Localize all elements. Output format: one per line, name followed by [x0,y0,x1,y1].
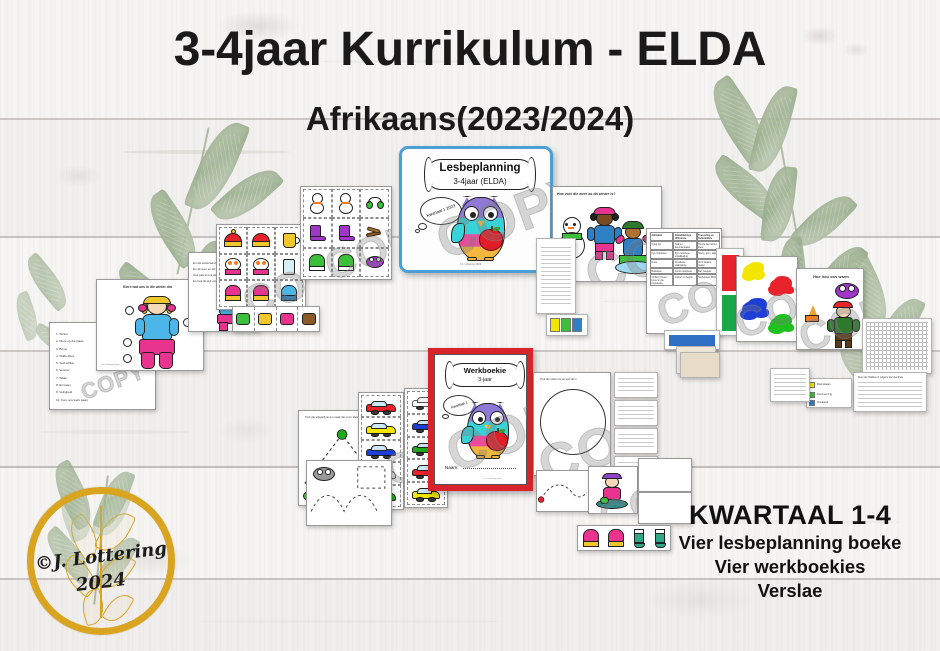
flashcard-cell [332,218,361,247]
fire-icon [805,305,819,323]
girl-winter-clothes-icon [133,296,181,370]
worksheet-colour-blocks [546,314,588,336]
cover-title: Werkboekie [464,367,507,375]
name-label: Naam: [445,465,459,470]
list-item: 2. Diere op die plaas [56,338,88,345]
monster-icon [366,256,384,269]
paint-splat-icon [743,264,762,279]
firewood-icon [366,227,383,239]
table-cell: Onthou: Neem fotos vir die portefeulje [650,274,673,286]
flashcard-cell [332,189,361,218]
cover-banner: Lesbeplanning 3-4jaar (ELDA) [428,159,532,190]
list-item: 10. Kom ons werk saam [56,397,88,404]
worksheet-title: Hoe hou ons warm [813,274,849,280]
worksheet-blank-box-1 [638,458,692,492]
worksheet-shape-trace-bottom [306,460,392,526]
flashcard-cell [360,189,389,218]
watermark-logo: ©J. Lottering 2024 [27,487,175,635]
mitten-icon [309,254,325,271]
owl-with-apple-icon [457,197,505,261]
speech-bubble-tail [442,414,449,419]
list-item: 7. Water [56,375,88,382]
footer-line-1: Vier lesbeplanning boeke [640,532,940,554]
table-header-cell: Toerusting en hulpmiddels [697,232,720,241]
lesson-plan-table: Aktiwiteit Ontwikkelings Uitkomste Toeru… [650,232,720,286]
paper-stack [680,352,720,378]
boot-icon [337,225,355,241]
flashcard-cell [219,227,247,254]
flashcard-cell [303,218,332,247]
list-item: 5. Suid Afrika [56,360,88,367]
mitten-icon [583,529,599,547]
footer-text-block: KWARTAAL 1-4 Vier lesbeplanning boeke Vi… [640,500,940,602]
paint-splat-icon [770,317,790,332]
worksheet-title: Hoe voel die weer as dit winter is? [557,192,616,197]
flashcard-cell [361,395,401,417]
cover-subtitle: 3-4jaar (ELDA) [453,177,506,186]
flashcard-cell [361,440,401,462]
table-header-cell: Ontwikkelings Uitkomste [673,232,696,241]
footer-line-2: Vier werkboekies [640,556,940,578]
paint-splat-icon [742,301,764,317]
child-on-snow-tube-icon [595,473,629,509]
flashcard-cell [247,280,275,307]
footer-heading: KWARTAAL 1-4 [640,500,940,531]
flashcard-cell [247,254,275,281]
worksheet-small-lined-1 [614,372,658,398]
worksheet-grid-paper [862,318,932,374]
owl-with-apple-icon [467,403,509,459]
table-cell: Kuns [650,259,673,268]
cover-title: Lesbeplanning [439,163,520,175]
flashcard-cell [332,248,361,277]
worksheet-paint-splats: COPY [736,256,798,342]
list-item: 3. Bome [56,346,88,353]
flashcard-cell [303,248,332,277]
flashcard-cell [360,218,389,247]
flashcard-cell [275,280,303,307]
list-item: 9. Veiligheid [56,389,88,396]
table-cell: Fyn motoriese ontwikkeling [673,250,696,259]
monster-icon [835,283,859,300]
worksheet-title: Klere wat ons in die winter dra [123,285,172,290]
flashcard-cell [303,189,332,218]
flashcard-cell [275,227,303,254]
table-cell: Fyn motoriese [650,250,673,259]
flashcard-cell [361,417,401,439]
footer-line-3: Verslae [640,580,940,602]
flashcard-cell [219,254,247,281]
flashcard-cell [275,254,303,281]
list-item: 8. Emosies [56,382,88,389]
workbook-cover-card: Werkboekie 3-jaar Kwartaal 1 Naam: ©J. L… [428,348,533,491]
list-item: 4. Wilde diere [56,353,88,360]
cover-banner: Werkboekie 3-jaar [449,363,521,387]
flashcard-cell [247,227,275,254]
boot-icon [308,225,326,241]
paint-splat-icon [770,279,790,294]
speech-bubble-tail [415,229,420,233]
flashcard-cell [219,280,247,307]
worksheet-small-lined-2 [614,400,658,426]
page-subtitle: Afrikaans(2023/2024) [0,100,940,138]
flashcards-winter-strip [232,306,320,332]
speech-bubble: Kwartaal 1 2023 [420,197,462,225]
flashcard-cell [360,248,389,277]
table-cell: Kring tyd [650,241,673,250]
lesson-plan-table-page: Aktiwiteit Ontwikkelings Uitkomste Toeru… [646,228,722,334]
mitten-icon [608,529,624,547]
worksheet-trace-circle: Trek die sirkel oor en verf dit in COPY [533,372,611,476]
lesson-plan-cover-card: Lesbeplanning 3-4jaar (ELDA) Kwartaal 1 … [399,146,553,273]
table-cell: Luister en begrip [673,274,696,286]
table-cell: Kreatiewe uitdrukking [673,259,696,268]
flashcards-winter-items-1: COPY [216,224,306,310]
mitten-icon [338,254,354,271]
snowman-icon [310,193,324,215]
worksheet-dashed-path [536,470,592,512]
cover-subtitle: 3-jaar [478,377,492,383]
name-blank-line [463,468,516,469]
worksheet-small-lined-3 [614,428,658,454]
worksheet-lined-paper-2 [770,368,810,402]
child-winter-clothes-icon [827,301,859,349]
flashcards-winter-items-2: COPY [300,186,392,280]
worksheet-blank-left [536,238,576,314]
worksheet-hoe-hou-ons-warm: Hoe hou ons warm COPY [796,268,864,350]
monster-icon [313,467,335,482]
worksheet-child-sledding: COPY [588,466,638,514]
table-header-cell: Aktiwiteit [650,232,673,241]
list-item: 6. Vervoer [56,367,88,374]
earmuffs-icon [365,197,385,210]
page-title: 3-4jaar Kurrikulum - ELDA [0,22,940,77]
table-cell: Taal en kommunikasie [673,241,696,250]
worksheet-lined-paper: Kleur die blokkies in volgens die kleurk… [853,372,927,412]
list-item: 1. Winter [56,331,88,338]
colour-code-legend: Rooi skaars Nommer ring Onsatend [806,378,852,408]
snowman-icon [339,193,353,215]
